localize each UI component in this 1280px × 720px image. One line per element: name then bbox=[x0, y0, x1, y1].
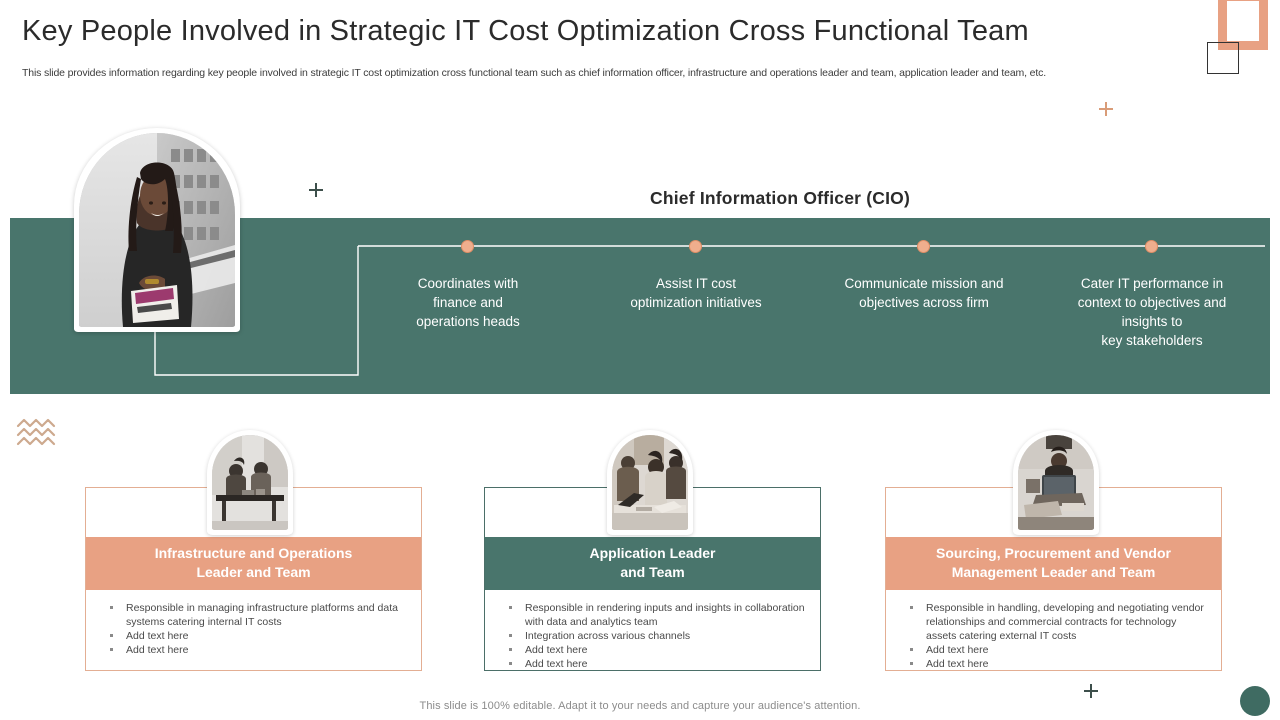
plus-icon bbox=[1099, 102, 1113, 116]
card-title: Sourcing, Procurement and VendorManageme… bbox=[886, 537, 1221, 590]
card-photo-frame-application bbox=[607, 430, 693, 535]
plus-icon bbox=[309, 183, 323, 197]
list-item: Integration across various channels bbox=[497, 629, 808, 643]
milestone-text: Cater IT performance incontext to object… bbox=[1058, 274, 1246, 350]
page-title: Key People Involved in Strategic IT Cost… bbox=[22, 14, 1142, 48]
cio-portrait-image bbox=[79, 133, 235, 327]
slide-root: Key People Involved in Strategic IT Cost… bbox=[0, 0, 1280, 720]
list-item: Responsible in handling, developing and … bbox=[898, 601, 1209, 643]
card-bullets: Responsible in managing infrastructure p… bbox=[86, 593, 421, 657]
milestone-dot bbox=[1145, 240, 1158, 253]
list-item: Add text here bbox=[898, 643, 1209, 657]
list-item: Add text here bbox=[497, 643, 808, 657]
card-photo-frame-sourcing bbox=[1013, 430, 1099, 535]
card-photo-frame-infrastructure bbox=[207, 430, 293, 535]
milestone-dot bbox=[461, 240, 474, 253]
card-bullets: Responsible in handling, developing and … bbox=[886, 593, 1221, 671]
page-subtitle: This slide provides information regardin… bbox=[22, 66, 1232, 80]
card-photo-application bbox=[612, 435, 688, 530]
milestone-text: Coordinates withfinance andoperations he… bbox=[383, 274, 553, 331]
milestone-text: Communicate mission andobjectives across… bbox=[829, 274, 1019, 312]
milestone-dot bbox=[917, 240, 930, 253]
cio-portrait-frame bbox=[74, 128, 240, 332]
zigzag-pattern-icon bbox=[16, 418, 60, 448]
list-item: Add text here bbox=[98, 643, 409, 657]
list-item: Add text here bbox=[98, 629, 409, 643]
footer-note: This slide is 100% editable. Adapt it to… bbox=[0, 700, 1280, 712]
list-item: Responsible in managing infrastructure p… bbox=[98, 601, 409, 629]
list-item: Add text here bbox=[898, 657, 1209, 671]
list-item: Add text here bbox=[497, 657, 808, 671]
card-title: Infrastructure and OperationsLeader and … bbox=[86, 537, 421, 590]
square-outline-icon bbox=[1207, 42, 1239, 74]
card-photo-infrastructure bbox=[212, 435, 288, 530]
card-photo-sourcing bbox=[1018, 435, 1094, 530]
milestone-dot bbox=[689, 240, 702, 253]
circle-shape-icon bbox=[1240, 686, 1270, 716]
plus-icon bbox=[1084, 684, 1098, 698]
cio-heading: Chief Information Officer (CIO) bbox=[440, 188, 1120, 209]
card-bullets: Responsible in rendering inputs and insi… bbox=[485, 593, 820, 671]
card-title: Application Leaderand Team bbox=[485, 537, 820, 590]
list-item: Responsible in rendering inputs and insi… bbox=[497, 601, 808, 629]
milestone-text: Assist IT costoptimization initiatives bbox=[608, 274, 784, 312]
